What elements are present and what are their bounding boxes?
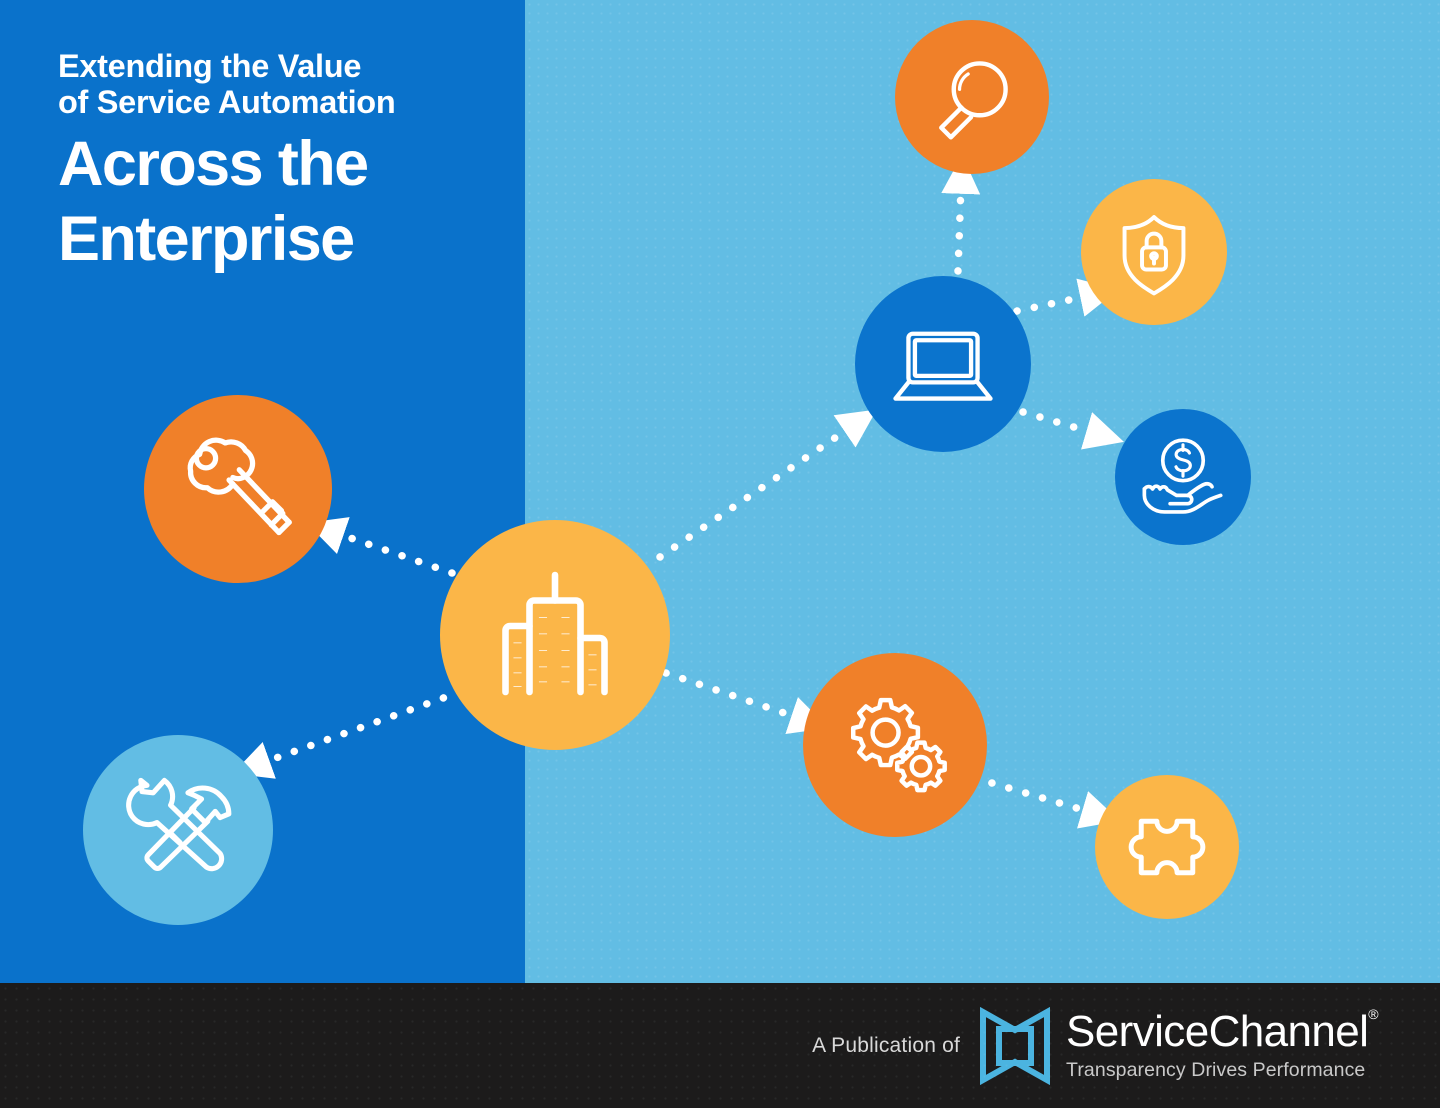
logo-name-text: ServiceChannel <box>1066 1007 1368 1056</box>
logo-tagline: Transparency Drives Performance <box>1066 1061 1378 1081</box>
registered-mark: ® <box>1368 1006 1378 1022</box>
shield-lock-icon <box>1108 206 1200 298</box>
puzzle-icon <box>1121 801 1213 893</box>
node-security[interactable] <box>1081 179 1227 325</box>
logo-name: ServiceChannel® <box>1066 1010 1378 1054</box>
infographic-canvas: Extending the Value of Service Automatio… <box>0 0 1440 1108</box>
tools-icon <box>116 768 240 892</box>
title-line-1: Extending the Value <box>58 48 503 84</box>
gears-icon <box>836 686 954 804</box>
publication-label: A Publication of <box>812 1034 960 1058</box>
page-title: Extending the Value of Service Automatio… <box>58 48 503 271</box>
magnifier-icon <box>924 49 1020 145</box>
laptop-icon <box>889 310 997 418</box>
key-icon <box>174 425 302 553</box>
node-access[interactable] <box>144 395 332 583</box>
node-enterprise[interactable] <box>440 520 670 750</box>
logo-text-block: ServiceChannel® Transparency Drives Perf… <box>1066 1010 1378 1081</box>
node-financials[interactable] <box>1115 409 1251 545</box>
node-operations[interactable] <box>803 653 987 837</box>
node-technology[interactable] <box>855 276 1031 452</box>
node-maintenance[interactable] <box>83 735 273 925</box>
footer-content: A Publication of ServiceChannel® Transpa… <box>812 983 1378 1108</box>
title-line-2: of Service Automation <box>58 84 503 120</box>
building-icon <box>480 560 630 710</box>
footer-bar: A Publication of ServiceChannel® Transpa… <box>0 983 1440 1108</box>
servicechannel-logo[interactable]: ServiceChannel® Transparency Drives Perf… <box>978 1007 1378 1085</box>
title-line-3: Across the <box>58 133 503 196</box>
servicechannel-bowtie-logo-icon <box>978 1007 1052 1085</box>
node-integration[interactable] <box>1095 775 1239 919</box>
title-line-4: Enterprise <box>58 208 503 271</box>
node-visibility[interactable] <box>895 20 1049 174</box>
hand-dollar-icon <box>1137 431 1229 523</box>
